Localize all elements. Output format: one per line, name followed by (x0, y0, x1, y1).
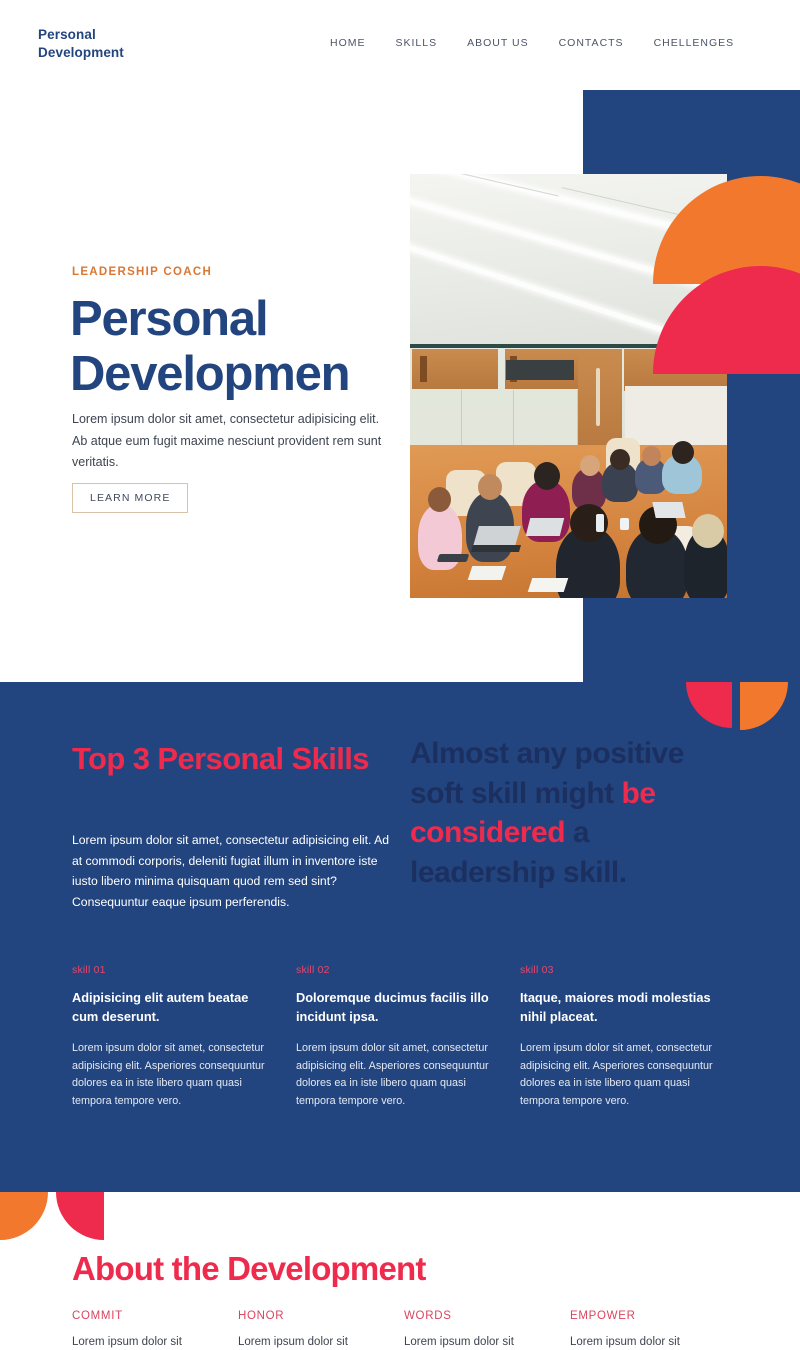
skill-card-text: Lorem ipsum dolor sit amet, consectetur … (296, 1040, 492, 1110)
skills-title: Top 3 Personal Skills (72, 740, 372, 777)
hero-description: Lorem ipsum dolor sit amet, consectetur … (72, 409, 392, 474)
nav-item-contacts[interactable]: CONTACTS (559, 37, 624, 49)
skill-card-text: Lorem ipsum dolor sit amet, consectetur … (520, 1040, 716, 1110)
about-column: COMMIT Lorem ipsum dolor sit (72, 1310, 238, 1350)
brand-line-1: Personal (38, 26, 124, 44)
skill-card: skill 03 Itaque, maiores modi molestias … (520, 964, 716, 1110)
skills-description: Lorem ipsum dolor sit amet, consectetur … (72, 830, 392, 912)
decor-quarter-orange-top (740, 682, 788, 730)
skill-card: skill 01 Adipisicing elit autem beatae c… (72, 964, 268, 1110)
nav-item-about-us[interactable]: ABOUT US (467, 37, 528, 49)
hero-eyebrow: LEADERSHIP COACH (72, 266, 212, 278)
about-column-text: Lorem ipsum dolor sit (238, 1333, 404, 1350)
about-column-heading: HONOR (238, 1310, 404, 1322)
nav-item-skills[interactable]: SKILLS (396, 37, 438, 49)
landing-page: Personal Development HOME SKILLS ABOUT U… (0, 0, 800, 1350)
about-title: About the Development (72, 1250, 426, 1288)
about-column-heading: EMPOWER (570, 1310, 736, 1322)
skills-headline: Almost any positive soft skill might be … (410, 734, 730, 892)
brand-line-2: Development (38, 44, 124, 62)
about-column-heading: COMMIT (72, 1310, 238, 1322)
skill-cards: skill 01 Adipisicing elit autem beatae c… (72, 964, 732, 1110)
about-column-text: Lorem ipsum dolor sit (570, 1333, 736, 1350)
hero-blue-panel-foot (583, 604, 800, 682)
about-column: HONOR Lorem ipsum dolor sit (238, 1310, 404, 1350)
about-column-heading: WORDS (404, 1310, 570, 1322)
about-column-text: Lorem ipsum dolor sit (72, 1333, 238, 1350)
decor-quarter-red-bottom (56, 1192, 104, 1240)
skill-card-number: skill 03 (520, 964, 716, 976)
skill-card-number: skill 02 (296, 964, 492, 976)
site-header: Personal Development HOME SKILLS ABOUT U… (0, 0, 800, 90)
nav-spacer (529, 37, 559, 49)
about-section: About the Development COMMIT Lorem ipsum… (0, 1192, 800, 1350)
skill-card-text: Lorem ipsum dolor sit amet, consectetur … (72, 1040, 268, 1110)
learn-more-button[interactable]: LEARN MORE (72, 483, 188, 513)
nav-item-chellenges[interactable]: CHELLENGES (654, 37, 735, 49)
page-title: Personal Developmen (70, 292, 420, 402)
skill-card-heading: Itaque, maiores modi molestias nihil pla… (520, 989, 716, 1026)
skill-card: skill 02 Doloremque ducimus facilis illo… (296, 964, 492, 1110)
skills-section: Top 3 Personal Skills Lorem ipsum dolor … (0, 682, 800, 1192)
about-column: WORDS Lorem ipsum dolor sit (404, 1310, 570, 1350)
brand-logo[interactable]: Personal Development (38, 26, 124, 62)
decor-quarter-orange-bottom (0, 1192, 48, 1240)
nav-item-home[interactable]: HOME (330, 37, 366, 49)
decor-quarter-red-top (686, 682, 732, 728)
nav-spacer (366, 37, 396, 49)
main-navigation: HOME SKILLS ABOUT US CONTACTS CHELLENGES (330, 37, 734, 49)
nav-spacer (624, 37, 654, 49)
skill-card-number: skill 01 (72, 964, 268, 976)
about-columns: COMMIT Lorem ipsum dolor sit HONOR Lorem… (72, 1310, 772, 1350)
skill-card-heading: Adipisicing elit autem beatae cum deseru… (72, 989, 268, 1026)
nav-spacer (437, 37, 467, 49)
about-column: EMPOWER Lorem ipsum dolor sit (570, 1310, 736, 1350)
skill-card-heading: Doloremque ducimus facilis illo incidunt… (296, 989, 492, 1026)
hero-section: LEADERSHIP COACH Personal Developmen Lor… (0, 0, 800, 682)
about-column-text: Lorem ipsum dolor sit (404, 1333, 570, 1350)
